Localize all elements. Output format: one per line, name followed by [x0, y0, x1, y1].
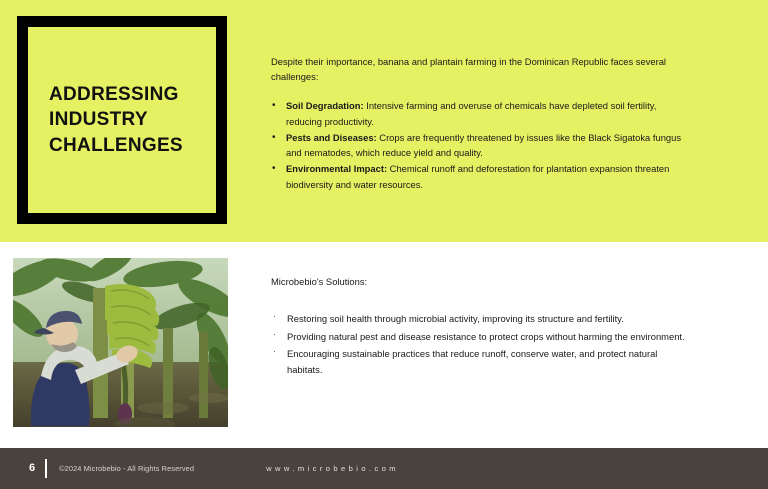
bullet-icon: •	[272, 161, 276, 177]
banana-plantation-photo	[13, 258, 228, 427]
list-item-text: Encouraging sustainable practices that r…	[287, 348, 657, 374]
bullet-icon: ·	[273, 328, 276, 342]
list-item: • Pests and Diseases: Crops are frequent…	[271, 130, 691, 160]
copyright-text: ©2024 Microbebio - All Rights Reserved	[59, 464, 194, 473]
top-yellow-panel: ADDRESSING INDUSTRY CHALLENGES Despite t…	[0, 0, 768, 242]
list-item: · Restoring soil health through microbia…	[271, 311, 691, 326]
list-item: · Encouraging sustainable practices that…	[271, 346, 691, 377]
challenges-intro-text: Despite their importance, banana and pla…	[271, 54, 691, 84]
list-item: • Soil Degradation: Intensive farming an…	[271, 98, 691, 128]
solutions-list: · Restoring soil health through microbia…	[271, 311, 691, 377]
challenges-list: • Soil Degradation: Intensive farming an…	[271, 98, 691, 191]
solutions-section: Microbebio's Solutions: · Restoring soil…	[271, 274, 691, 379]
list-item-text: Restoring soil health through microbial …	[287, 313, 624, 324]
bullet-icon: ·	[273, 345, 276, 359]
solutions-title: Microbebio's Solutions:	[271, 274, 691, 289]
challenges-section: Despite their importance, banana and pla…	[271, 54, 691, 193]
website-url: www.microbebio.com	[266, 464, 399, 473]
bullet-icon: •	[272, 130, 276, 146]
list-item: · Providing natural pest and disease res…	[271, 329, 691, 344]
list-item: • Environmental Impact: Chemical runoff …	[271, 161, 691, 191]
bullet-icon: ·	[273, 310, 276, 324]
page-number: 6	[29, 463, 35, 474]
bullet-icon: •	[272, 98, 276, 114]
footer-divider	[45, 459, 47, 478]
photo-illustration	[13, 258, 228, 427]
list-item-text: Providing natural pest and disease resis…	[287, 331, 685, 342]
title-frame: ADDRESSING INDUSTRY CHALLENGES	[17, 16, 227, 224]
title-inner: ADDRESSING INDUSTRY CHALLENGES	[28, 82, 183, 158]
page-title: ADDRESSING INDUSTRY CHALLENGES	[49, 82, 183, 158]
list-item-lead: Soil Degradation:	[286, 100, 364, 111]
list-item-lead: Environmental Impact:	[286, 163, 387, 174]
footer-bar: 6 ©2024 Microbebio - All Rights Reserved…	[0, 448, 768, 489]
list-item-lead: Pests and Diseases:	[286, 132, 377, 143]
